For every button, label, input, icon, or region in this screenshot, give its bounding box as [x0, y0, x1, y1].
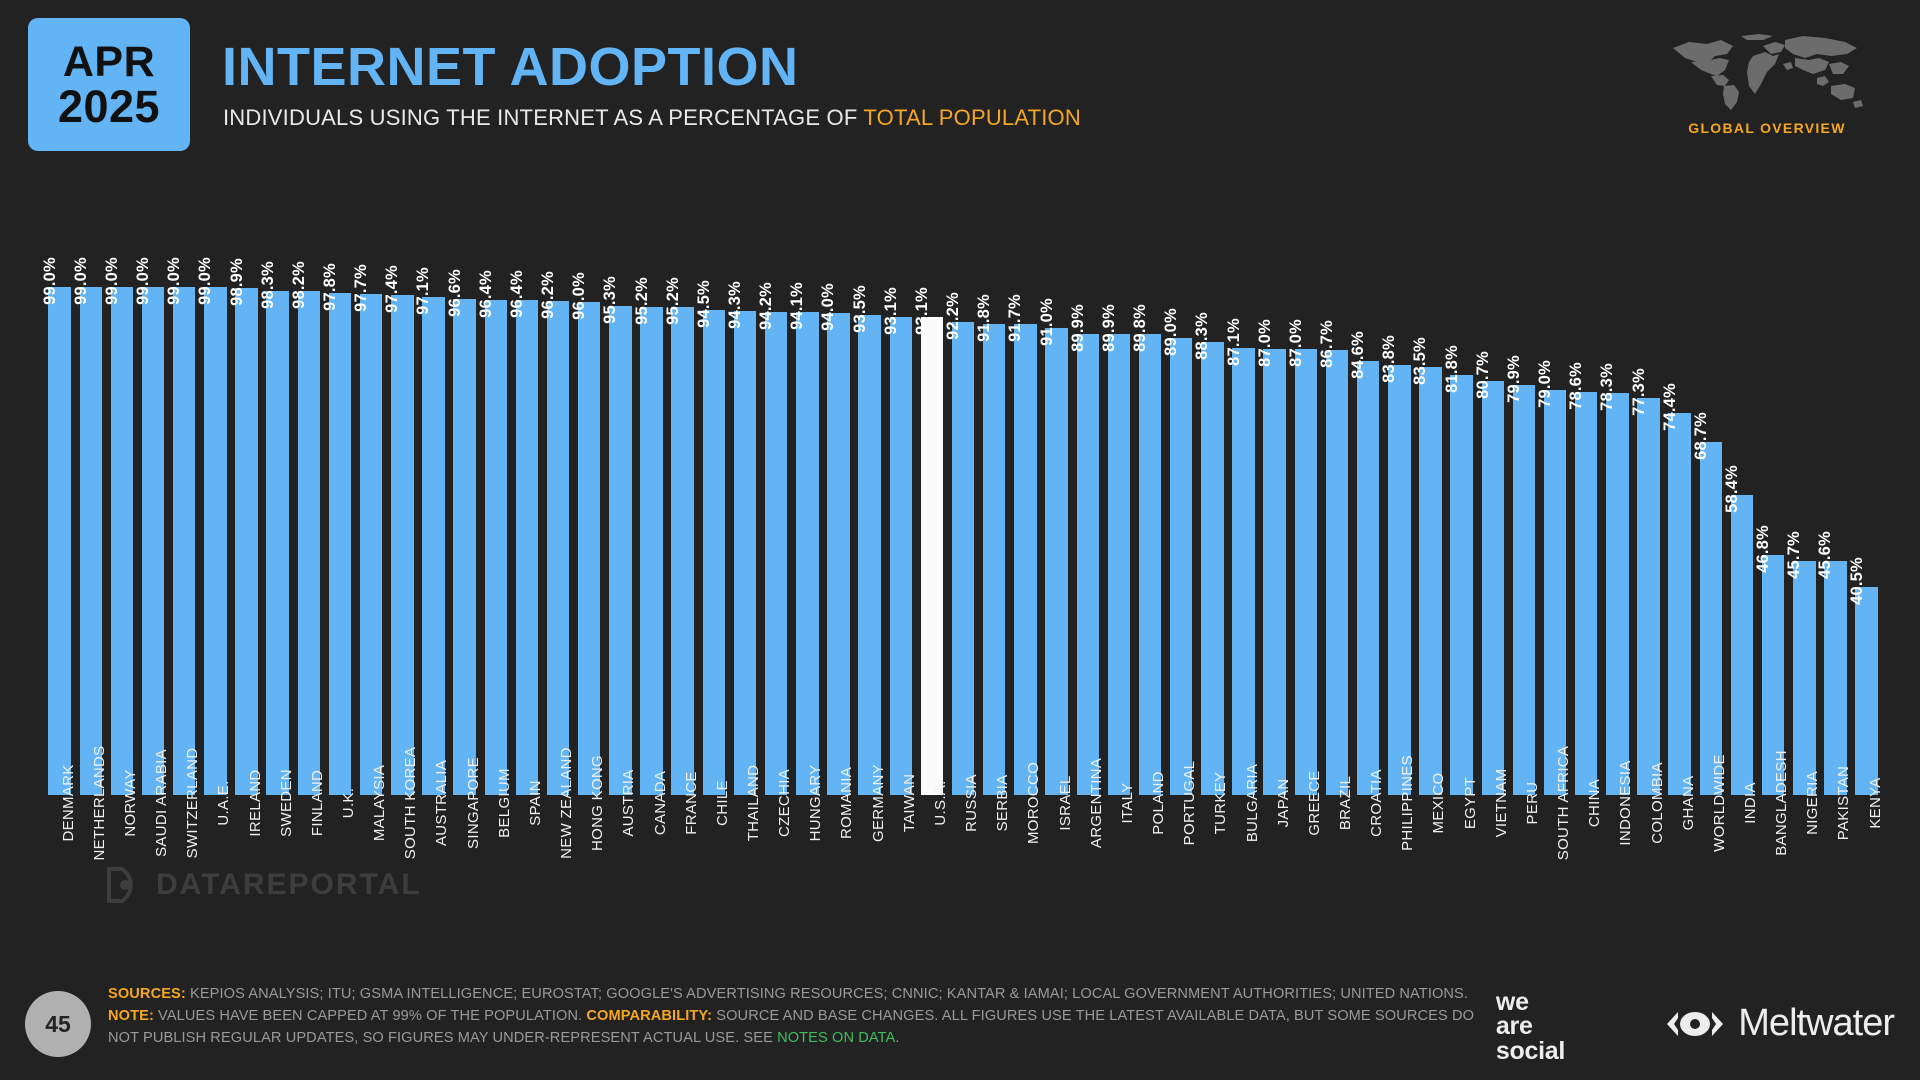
bar-value-label: 68.7%	[1692, 413, 1711, 461]
category-label: CZECHIA	[776, 769, 793, 837]
bar-value-label: 84.6%	[1349, 331, 1368, 379]
bar	[1232, 348, 1254, 795]
category-label: ROMANIA	[838, 767, 855, 839]
bar	[1668, 413, 1690, 795]
note-label: NOTE:	[108, 1008, 154, 1024]
category-label-column: BELGIUM	[480, 803, 511, 968]
bar	[1263, 349, 1285, 795]
category-label: AUSTRIA	[620, 769, 637, 836]
bar-column: 91.0%	[1041, 175, 1072, 795]
category-label: FRANCE	[683, 771, 700, 834]
bar-value-label: 94.1%	[788, 282, 807, 330]
bar-value-label: 97.4%	[383, 265, 402, 313]
category-axis-labels: DENMARKNETHERLANDSNORWAYSAUDI ARABIASWIT…	[44, 803, 1882, 968]
bar-value-label: 79.0%	[1536, 360, 1555, 408]
category-label-column: WORLDWIDE	[1695, 803, 1726, 968]
category-label: BRAZIL	[1337, 776, 1354, 830]
bar-column: 78.3%	[1602, 175, 1633, 795]
bar-value-label: 89.8%	[1131, 304, 1150, 352]
category-label-column: PERU	[1508, 803, 1539, 968]
bar-value-label: 93.1%	[882, 287, 901, 335]
bar-column: 45.6%	[1820, 175, 1851, 795]
category-label: THAILAND	[745, 765, 762, 842]
bar	[485, 300, 507, 795]
category-label: HONG KONG	[589, 755, 606, 851]
category-label-column: PAKISTAN	[1820, 803, 1851, 968]
category-label: SWITZERLAND	[184, 748, 201, 859]
bar	[1824, 561, 1846, 795]
bar-column: 97.8%	[324, 175, 355, 795]
bar-value-label: 96.2%	[539, 271, 558, 319]
bar-value-label: 87.1%	[1225, 318, 1244, 366]
we-are-social-logo: we are social	[1496, 990, 1565, 1063]
bar-value-label: 99.0%	[134, 257, 153, 305]
global-overview-badge: GLOBAL OVERVIEW	[1642, 28, 1892, 136]
page-subtitle-highlight: TOTAL POPULATION	[863, 105, 1081, 130]
bar-value-label: 96.0%	[570, 273, 589, 321]
bar	[703, 310, 725, 795]
category-label: POLAND	[1150, 771, 1167, 835]
bar-column: 93.1%	[916, 175, 947, 795]
bar-value-label: 99.0%	[196, 257, 215, 305]
notes-on-data-link[interactable]: NOTES ON DATA	[777, 1030, 895, 1046]
bar-column: 79.0%	[1540, 175, 1571, 795]
bar-value-label: 78.3%	[1598, 363, 1617, 411]
category-label-column: CANADA	[636, 803, 667, 968]
bar-value-label: 95.2%	[664, 277, 683, 325]
category-label: WORLDWIDE	[1711, 754, 1728, 852]
category-label: RUSSIA	[963, 774, 980, 832]
bar-column: 95.2%	[667, 175, 698, 795]
category-label-column: CHINA	[1571, 803, 1602, 968]
category-label: SWEDEN	[278, 769, 295, 837]
bar	[671, 307, 693, 796]
category-label: NORWAY	[122, 769, 139, 836]
category-label-column: AUSTRIA	[605, 803, 636, 968]
category-label-column: BULGARIA	[1228, 803, 1259, 968]
bar-value-label: 97.8%	[321, 263, 340, 311]
bar	[391, 295, 413, 795]
category-label: SPAIN	[527, 780, 544, 825]
bar-column: 96.2%	[543, 175, 574, 795]
meltwater-logo: Meltwater	[1664, 1002, 1894, 1045]
category-label: COLOMBIA	[1649, 762, 1666, 844]
category-label-column: INDONESIA	[1602, 803, 1633, 968]
category-label-column: ARGENTINA	[1072, 803, 1103, 968]
bar-value-label: 89.9%	[1069, 304, 1088, 352]
bar	[1575, 392, 1597, 795]
bar-column: 78.6%	[1571, 175, 1602, 795]
bar-value-label: 45.7%	[1785, 531, 1804, 579]
bar	[1326, 350, 1348, 795]
footer-notes: SOURCES: KEPIOS ANALYSIS; ITU; GSMA INTE…	[108, 983, 1498, 1050]
bar-column: 94.2%	[761, 175, 792, 795]
category-label: PHILIPPINES	[1399, 755, 1416, 851]
category-label: TURKEY	[1212, 772, 1229, 835]
bar-value-label: 96.6%	[446, 269, 465, 317]
bar	[422, 297, 444, 795]
category-label-column: HUNGARY	[792, 803, 823, 968]
bar-value-label: 94.3%	[726, 281, 745, 329]
category-label-column: BRAZIL	[1321, 803, 1352, 968]
category-label: CROATIA	[1368, 769, 1385, 837]
category-label-column: GHANA	[1664, 803, 1695, 968]
bar	[1731, 495, 1753, 795]
bar-column: 98.2%	[293, 175, 324, 795]
bar-column: 99.0%	[75, 175, 106, 795]
bar-column: 99.0%	[200, 175, 231, 795]
bar-column: 88.3%	[1197, 175, 1228, 795]
bar-column: 81.8%	[1446, 175, 1477, 795]
bar-column: 89.9%	[1072, 175, 1103, 795]
category-label-column: MALAYSIA	[356, 803, 387, 968]
bar-value-label: 93.5%	[851, 285, 870, 333]
bar	[1014, 324, 1036, 795]
bar	[827, 313, 849, 795]
category-label-column: CZECHIA	[761, 803, 792, 968]
bar	[1357, 361, 1379, 795]
bar-value-label: 94.0%	[819, 283, 838, 331]
bar-column: 87.0%	[1259, 175, 1290, 795]
category-label-column: PHILIPPINES	[1384, 803, 1415, 968]
category-label: HUNGARY	[807, 765, 824, 842]
meltwater-eye-icon	[1664, 1009, 1726, 1039]
category-label: FINLAND	[309, 770, 326, 836]
category-label: SERBIA	[994, 775, 1011, 832]
category-label: SOUTH KOREA	[402, 747, 419, 859]
bar-value-label: 45.6%	[1816, 531, 1835, 579]
bar	[765, 312, 787, 795]
bar-value-label: 95.3%	[601, 276, 620, 324]
bar-value-label: 40.5%	[1848, 557, 1867, 605]
category-label: U.A.E.	[215, 780, 232, 825]
category-label: KENYA	[1867, 777, 1884, 828]
bar-column: 40.5%	[1851, 175, 1882, 795]
world-map-icon	[1667, 28, 1867, 114]
category-label-column: KENYA	[1851, 803, 1882, 968]
category-label-column: VIETNAM	[1477, 803, 1508, 968]
header: APR 2025 INTERNET ADOPTION INDIVIDUALS U…	[0, 0, 1920, 175]
category-label-column: AUSTRALIA	[418, 803, 449, 968]
page-number-badge: 45	[25, 991, 91, 1057]
bar-column: 96.4%	[511, 175, 542, 795]
bar-value-label: 91.8%	[975, 294, 994, 342]
bar-value-label: 98.3%	[259, 261, 278, 309]
category-label-column: TAIWAN	[885, 803, 916, 968]
bar-value-label: 96.4%	[477, 270, 496, 318]
bar	[1077, 334, 1099, 795]
category-label-column: SWEDEN	[262, 803, 293, 968]
bar-value-label: 46.8%	[1754, 525, 1773, 573]
category-label-column: IRELAND	[231, 803, 262, 968]
date-badge: APR 2025	[28, 18, 190, 151]
bar-value-label: 99.0%	[165, 257, 184, 305]
bar-value-label: 95.2%	[633, 277, 652, 325]
bar	[609, 306, 631, 795]
category-label: EGYPT	[1462, 777, 1479, 829]
bar	[516, 300, 538, 795]
bar-column: 89.9%	[1103, 175, 1134, 795]
bar-value-label: 87.0%	[1287, 319, 1306, 367]
category-label-column: INDIA	[1726, 803, 1757, 968]
bar	[453, 299, 475, 795]
category-label-column: GERMANY	[854, 803, 885, 968]
category-label-column: GREECE	[1290, 803, 1321, 968]
bar-column: 92.2%	[948, 175, 979, 795]
bar	[1419, 367, 1441, 795]
category-label: IRELAND	[247, 769, 264, 836]
category-label-column: SWITZERLAND	[169, 803, 200, 968]
bar-value-label: 96.4%	[508, 270, 527, 318]
bar	[298, 291, 320, 795]
category-label: GHANA	[1680, 776, 1697, 831]
bar	[1637, 398, 1659, 795]
bar-value-label: 88.3%	[1193, 312, 1212, 360]
bar-value-label: 99.0%	[41, 257, 60, 305]
bar-value-label: 99.0%	[72, 257, 91, 305]
category-label: BELGIUM	[496, 768, 513, 838]
category-label: INDONESIA	[1617, 760, 1634, 845]
category-label: ARGENTINA	[1088, 758, 1105, 848]
bar-column: 89.0%	[1166, 175, 1197, 795]
bar	[858, 315, 880, 795]
bar-value-label: 81.8%	[1443, 345, 1462, 393]
sources-text: KEPIOS ANALYSIS; ITU; GSMA INTELLIGENCE;…	[186, 986, 1468, 1002]
bar-column: 91.7%	[1010, 175, 1041, 795]
bar-value-label: 97.7%	[352, 264, 371, 312]
category-label-column: POLAND	[1134, 803, 1165, 968]
bar	[1201, 342, 1223, 795]
bar-value-label: 78.6%	[1567, 362, 1586, 410]
bar-column: 77.3%	[1633, 175, 1664, 795]
bar-value-label: 77.3%	[1630, 368, 1649, 416]
category-label: PORTUGAL	[1181, 761, 1198, 846]
bar-column: 94.1%	[792, 175, 823, 795]
bar-column: 80.7%	[1477, 175, 1508, 795]
bar	[1855, 587, 1877, 795]
bar-value-label: 89.0%	[1162, 308, 1181, 356]
bar-column: 58.4%	[1726, 175, 1757, 795]
category-label: INDIA	[1742, 782, 1759, 824]
bar	[1139, 334, 1161, 795]
comparability-label: COMPARABILITY:	[586, 1008, 712, 1024]
bar-column: 93.5%	[854, 175, 885, 795]
bar	[1793, 561, 1815, 796]
bar	[578, 302, 600, 795]
category-label: U.S.A.	[932, 780, 949, 825]
we-are-social-line1: we	[1496, 990, 1565, 1014]
bar-value-label: 74.4%	[1661, 383, 1680, 431]
category-label: CANADA	[652, 771, 669, 835]
bar	[921, 317, 943, 795]
category-label-column: RUSSIA	[948, 803, 979, 968]
bar-column: 46.8%	[1758, 175, 1789, 795]
category-label-column: U.K.	[324, 803, 355, 968]
category-label-column: EGYPT	[1446, 803, 1477, 968]
bar-column: 97.1%	[418, 175, 449, 795]
page-subtitle: INDIVIDUALS USING THE INTERNET AS A PERC…	[223, 105, 1081, 131]
category-label-column: ITALY	[1103, 803, 1134, 968]
bar-column: 83.5%	[1415, 175, 1446, 795]
bar-value-label: 79.9%	[1505, 355, 1524, 403]
category-label-column: TURKEY	[1197, 803, 1228, 968]
category-label: NIGERIA	[1804, 771, 1821, 835]
category-label: NEW ZEALAND	[558, 747, 575, 859]
category-label-column: SPAIN	[511, 803, 542, 968]
category-label: NETHERLANDS	[91, 746, 108, 861]
bar	[1700, 442, 1722, 795]
bar	[360, 294, 382, 795]
bar	[890, 317, 912, 795]
category-label: CHILE	[714, 780, 731, 826]
bar-column: 79.9%	[1508, 175, 1539, 795]
bar	[1513, 385, 1535, 795]
category-label-column: HONG KONG	[574, 803, 605, 968]
footer: 45 SOURCES: KEPIOS ANALYSIS; ITU; GSMA I…	[0, 968, 1920, 1080]
category-label: BANGLADESH	[1773, 750, 1790, 856]
category-label-column: NORWAY	[106, 803, 137, 968]
bar-column: 96.4%	[480, 175, 511, 795]
bar-column: 86.7%	[1321, 175, 1352, 795]
bar	[1544, 390, 1566, 795]
category-label-column: ISRAEL	[1041, 803, 1072, 968]
category-label: PAKISTAN	[1835, 766, 1852, 840]
bar	[734, 311, 756, 795]
bar-value-label: 94.5%	[695, 280, 714, 328]
category-label-column: COLOMBIA	[1633, 803, 1664, 968]
category-label-column: SINGAPORE	[449, 803, 480, 968]
bar	[204, 287, 226, 795]
bar-value-label: 91.7%	[1006, 295, 1025, 343]
bar	[111, 287, 133, 795]
bar	[640, 307, 662, 796]
category-label-column: FINLAND	[293, 803, 324, 968]
chart-area: 99.0%99.0%99.0%99.0%99.0%99.0%98.9%98.3%…	[0, 175, 1920, 970]
category-label-column: ROMANIA	[823, 803, 854, 968]
bar	[983, 324, 1005, 795]
bar-column: 95.2%	[636, 175, 667, 795]
global-overview-label: GLOBAL OVERVIEW	[1642, 120, 1892, 136]
we-are-social-line3: social	[1496, 1039, 1565, 1063]
bar-value-label: 99.0%	[103, 257, 122, 305]
bar	[1295, 349, 1317, 795]
bar-column: 99.0%	[106, 175, 137, 795]
note-text: VALUES HAVE BEEN CAPPED AT 99% OF THE PO…	[154, 1008, 587, 1024]
category-label-column: NETHERLANDS	[75, 803, 106, 968]
category-label-column: MOROCCO	[1010, 803, 1041, 968]
bar	[796, 312, 818, 795]
bar-column: 87.1%	[1228, 175, 1259, 795]
bar-column: 98.3%	[262, 175, 293, 795]
we-are-social-line2: are	[1496, 1014, 1565, 1038]
bar	[1606, 393, 1628, 795]
category-label: ISRAEL	[1057, 775, 1074, 830]
category-label-column: SERBIA	[979, 803, 1010, 968]
category-label-column: NIGERIA	[1789, 803, 1820, 968]
category-label: ITALY	[1119, 783, 1136, 824]
category-label: SAUDI ARABIA	[153, 749, 170, 857]
bar	[1170, 338, 1192, 795]
bar-value-label: 87.0%	[1256, 319, 1275, 367]
bar-column: 68.7%	[1695, 175, 1726, 795]
sources-label: SOURCES:	[108, 986, 186, 1002]
bar	[1108, 334, 1130, 795]
category-label-column: NEW ZEALAND	[543, 803, 574, 968]
category-label: MOROCCO	[1025, 762, 1042, 844]
category-label: U.K.	[340, 788, 357, 818]
bar-value-label: 91.0%	[1038, 298, 1057, 346]
date-badge-year: 2025	[58, 84, 160, 129]
category-label-column: SOUTH AFRICA	[1540, 803, 1571, 968]
category-label: TAIWAN	[901, 774, 918, 832]
category-label-column: DENMARK	[44, 803, 75, 968]
bar-value-label: 86.7%	[1318, 320, 1337, 368]
bar-column: 83.8%	[1384, 175, 1415, 795]
bar-value-label: 58.4%	[1723, 465, 1742, 513]
bar-plot: 99.0%99.0%99.0%99.0%99.0%99.0%98.9%98.3%…	[44, 175, 1882, 795]
category-label-column: U.S.A.	[916, 803, 947, 968]
bar-column: 87.0%	[1290, 175, 1321, 795]
bar-column: 45.7%	[1789, 175, 1820, 795]
bar-column: 96.0%	[574, 175, 605, 795]
bar	[1388, 365, 1410, 795]
notes-link-suffix: .	[895, 1030, 899, 1046]
category-label: DENMARK	[60, 764, 77, 841]
bar	[329, 293, 351, 795]
category-label: GERMANY	[870, 764, 887, 842]
page-subtitle-prefix: INDIVIDUALS USING THE INTERNET AS A PERC…	[223, 105, 863, 130]
bar-value-label: 83.5%	[1411, 337, 1430, 385]
bar-column: 91.8%	[979, 175, 1010, 795]
bar-column: 84.6%	[1353, 175, 1384, 795]
bar	[173, 287, 195, 795]
category-label: MEXICO	[1430, 773, 1447, 834]
category-label: VIETNAM	[1493, 769, 1510, 838]
bar-column: 98.9%	[231, 175, 262, 795]
category-label: PERU	[1524, 782, 1541, 825]
category-label-column: CHILE	[698, 803, 729, 968]
bar	[1045, 328, 1067, 795]
bar	[80, 287, 102, 795]
category-label-column: U.A.E.	[200, 803, 231, 968]
meltwater-wordmark: Meltwater	[1738, 1002, 1894, 1045]
bar-column: 99.0%	[137, 175, 168, 795]
bar-column: 94.5%	[698, 175, 729, 795]
category-label-column: JAPAN	[1259, 803, 1290, 968]
bar-value-label: 98.2%	[290, 261, 309, 309]
bar-value-label: 94.2%	[757, 282, 776, 330]
category-label-column: SOUTH KOREA	[387, 803, 418, 968]
bar	[547, 301, 569, 795]
category-label: JAPAN	[1275, 779, 1292, 828]
category-label: MALAYSIA	[371, 765, 388, 841]
date-badge-month: APR	[63, 41, 155, 84]
bar-column: 93.1%	[885, 175, 916, 795]
category-label-column: THAILAND	[729, 803, 760, 968]
category-label: BULGARIA	[1244, 764, 1261, 842]
bar	[48, 287, 70, 795]
category-label-column: FRANCE	[667, 803, 698, 968]
category-label-column: CROATIA	[1353, 803, 1384, 968]
bar-column: 95.3%	[605, 175, 636, 795]
category-label: CHINA	[1586, 779, 1603, 827]
bar-column: 89.8%	[1134, 175, 1165, 795]
bar-value-label: 83.8%	[1380, 335, 1399, 383]
bar-column: 96.6%	[449, 175, 480, 795]
bar-value-label: 92.2%	[944, 292, 963, 340]
category-label-column: BANGLADESH	[1758, 803, 1789, 968]
page-title: INTERNET ADOPTION	[222, 36, 799, 98]
